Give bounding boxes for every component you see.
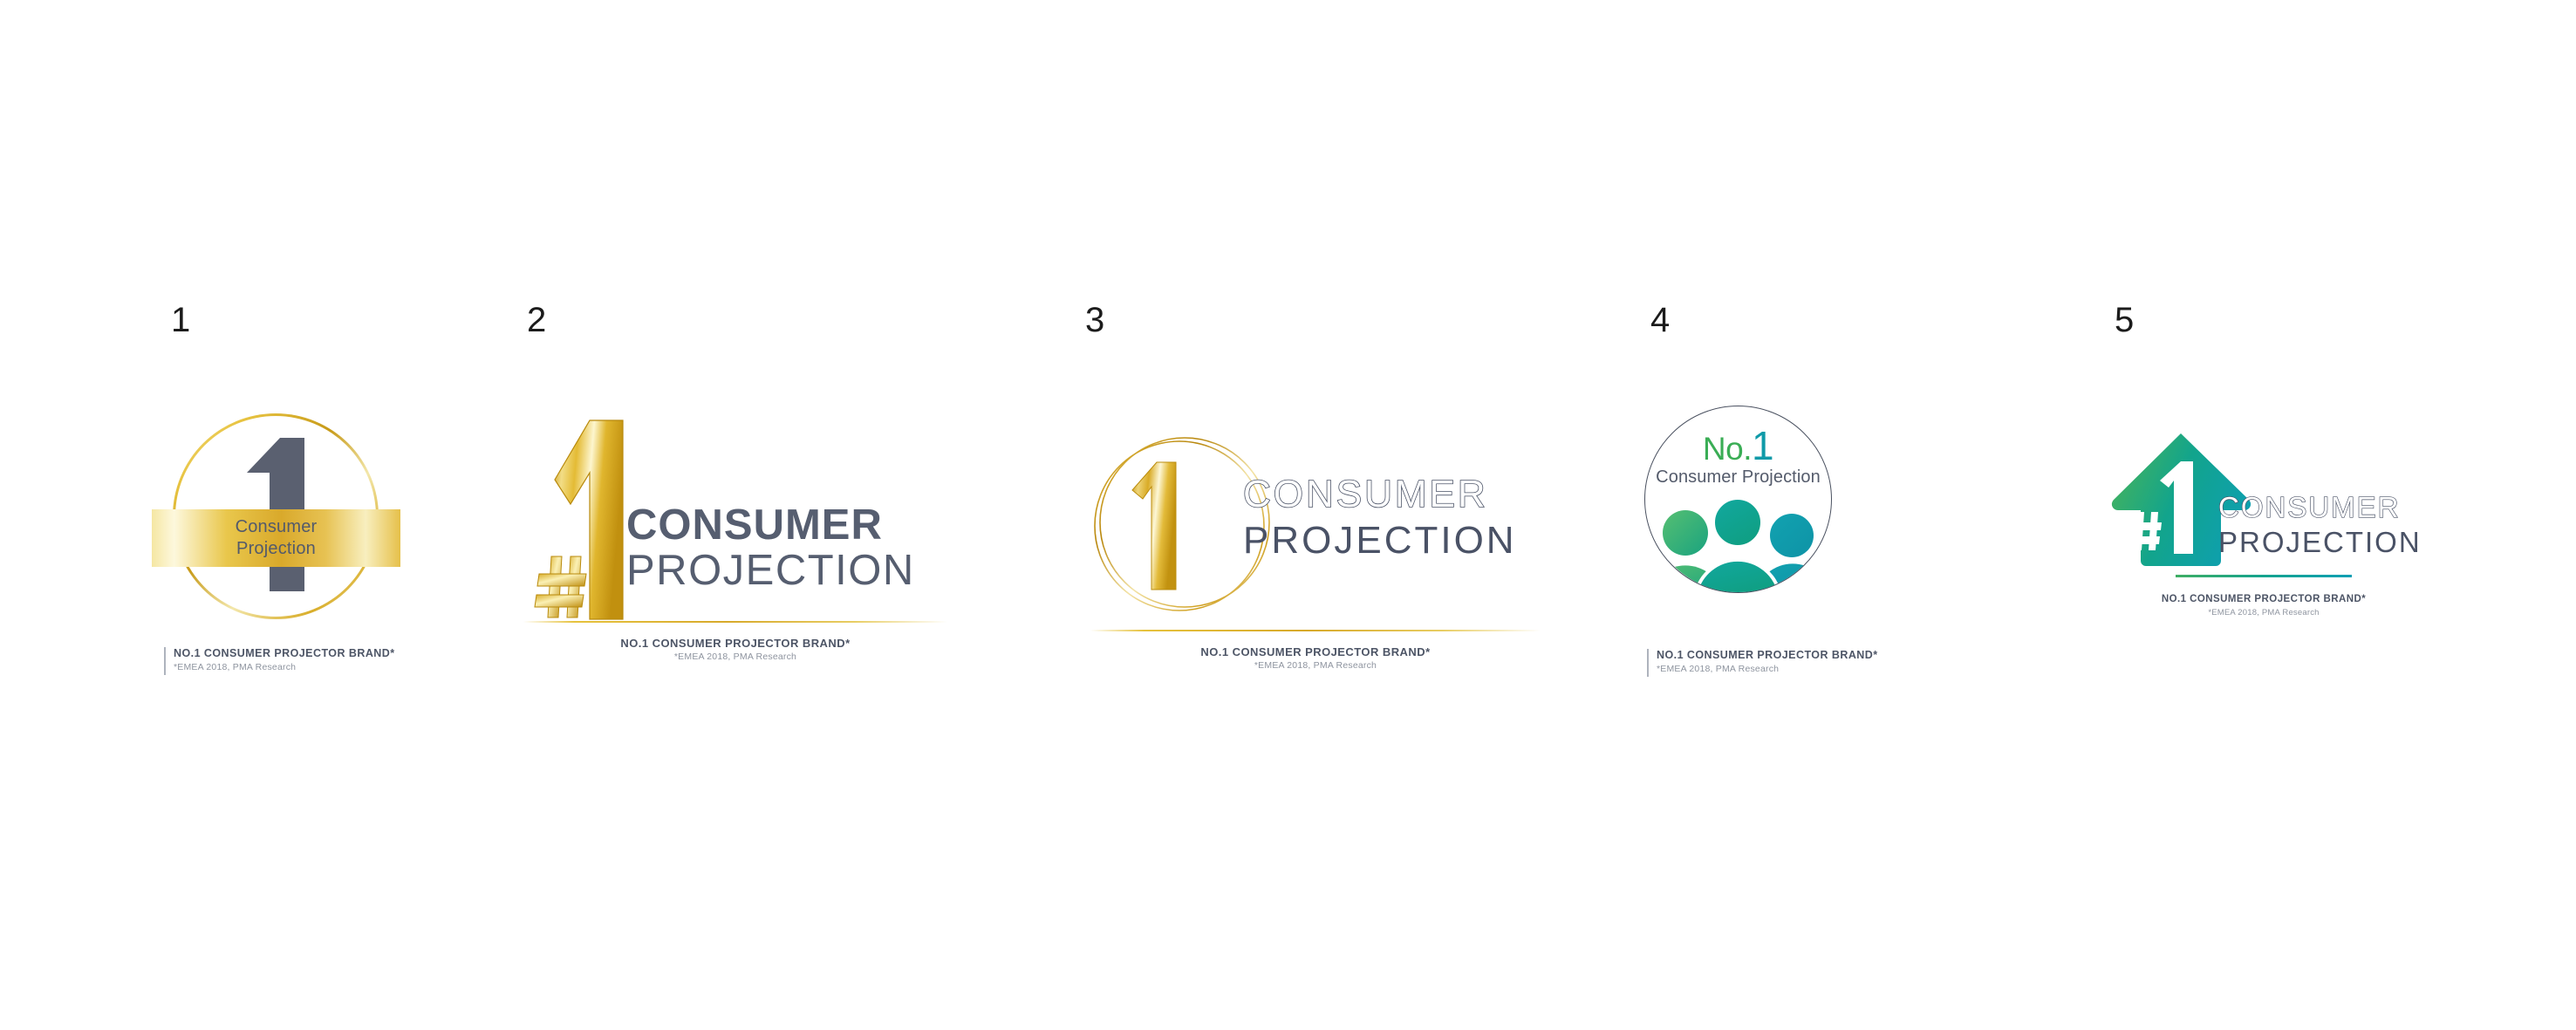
- gold-band: Consumer Projection: [152, 509, 400, 567]
- wordmark-line1-inner: CONSUMER: [2218, 493, 2401, 522]
- tagline-block-1: NO.1 CONSUMER PROJECTOR BRAND* *EMEA 201…: [164, 647, 395, 675]
- badge-band-line1: Consumer: [236, 516, 318, 538]
- tagline-sub: *EMEA 2018, PMA Research: [174, 661, 395, 673]
- green-teal-divider-5: [2176, 575, 2352, 577]
- gold-circle-badge: Consumer Projection: [166, 410, 393, 637]
- gold-divider-3: [1090, 630, 1541, 631]
- tagline-sub: *EMEA 2018, PMA Research: [523, 651, 947, 663]
- wordmark-line2: PROJECTION: [626, 549, 915, 591]
- variant-index-2: 2: [527, 303, 546, 338]
- wordmark-line1-inline: CONSUMER CONSUMER: [1243, 475, 1488, 514]
- variant-index-5: 5: [2115, 303, 2134, 338]
- tagline-sub: *EMEA 2018, PMA Research: [1657, 663, 1878, 675]
- people-circle-badge: No.1 Consumer Projection: [1644, 406, 1832, 593]
- tagline-block-3: NO.1 CONSUMER PROJECTOR BRAND* *EMEA 201…: [1090, 645, 1541, 672]
- wordmark-line1-inline: CONSUMER CONSUMER: [2218, 493, 2401, 522]
- badge-numeral: 1: [1752, 423, 1773, 468]
- gold-divider-2: [523, 621, 947, 623]
- tagline-accent-rule: [1647, 649, 1649, 677]
- badge-circle-outline: No.1 Consumer Projection: [1644, 406, 1832, 593]
- tagline-main: NO.1 CONSUMER PROJECTOR BRAND*: [2107, 593, 2421, 606]
- tagline-accent-rule: [164, 647, 166, 675]
- tagline-main: NO.1 CONSUMER PROJECTOR BRAND*: [523, 637, 947, 650]
- wordmark-line2: PROJECTION: [1243, 522, 1517, 560]
- wordmark-line2: PROJECTION: [2218, 528, 2422, 556]
- tagline-main: NO.1 CONSUMER PROJECTOR BRAND*: [1090, 645, 1541, 658]
- tagline-main: NO.1 CONSUMER PROJECTOR BRAND*: [1657, 649, 1878, 662]
- tagline-sub: *EMEA 2018, PMA Research: [2107, 607, 2421, 619]
- tagline-main: NO.1 CONSUMER PROJECTOR BRAND*: [174, 647, 395, 660]
- variant-index-4: 4: [1650, 303, 1670, 338]
- variant-index-1: 1: [171, 303, 190, 338]
- badge-band-line2: Projection: [236, 538, 316, 560]
- tagline-block-4: NO.1 CONSUMER PROJECTOR BRAND* *EMEA 201…: [1647, 649, 1878, 677]
- tagline-sub: *EMEA 2018, PMA Research: [1090, 659, 1541, 672]
- wordmark-2: CONSUMER PROJECTION: [626, 504, 915, 591]
- badge-subtitle: Consumer Projection: [1645, 467, 1831, 488]
- wordmark-line1-wrap: CONSUMER CONSUMER: [1243, 475, 1517, 514]
- badge-no1-text: No.1: [1645, 426, 1831, 466]
- badge-prefix: No.: [1703, 431, 1752, 467]
- wordmark-line1-inner: CONSUMER: [1243, 475, 1488, 514]
- wordmark-line1: CONSUMER: [626, 504, 915, 546]
- logo-variations-board: 1 2 3 4 5 Consumer Projection NO.1 CONSU…: [0, 0, 2576, 1030]
- wordmark-5: CONSUMER CONSUMER PROJECTION: [2218, 493, 2422, 556]
- wordmark-line1-wrap: CONSUMER CONSUMER: [2218, 493, 2422, 522]
- wordmark-3: CONSUMER CONSUMER PROJECTION: [1243, 475, 1517, 560]
- tagline-block-2: NO.1 CONSUMER PROJECTOR BRAND* *EMEA 201…: [523, 637, 947, 663]
- tagline-block-5: NO.1 CONSUMER PROJECTOR BRAND* *EMEA 201…: [2107, 593, 2421, 619]
- variant-index-3: 3: [1085, 303, 1104, 338]
